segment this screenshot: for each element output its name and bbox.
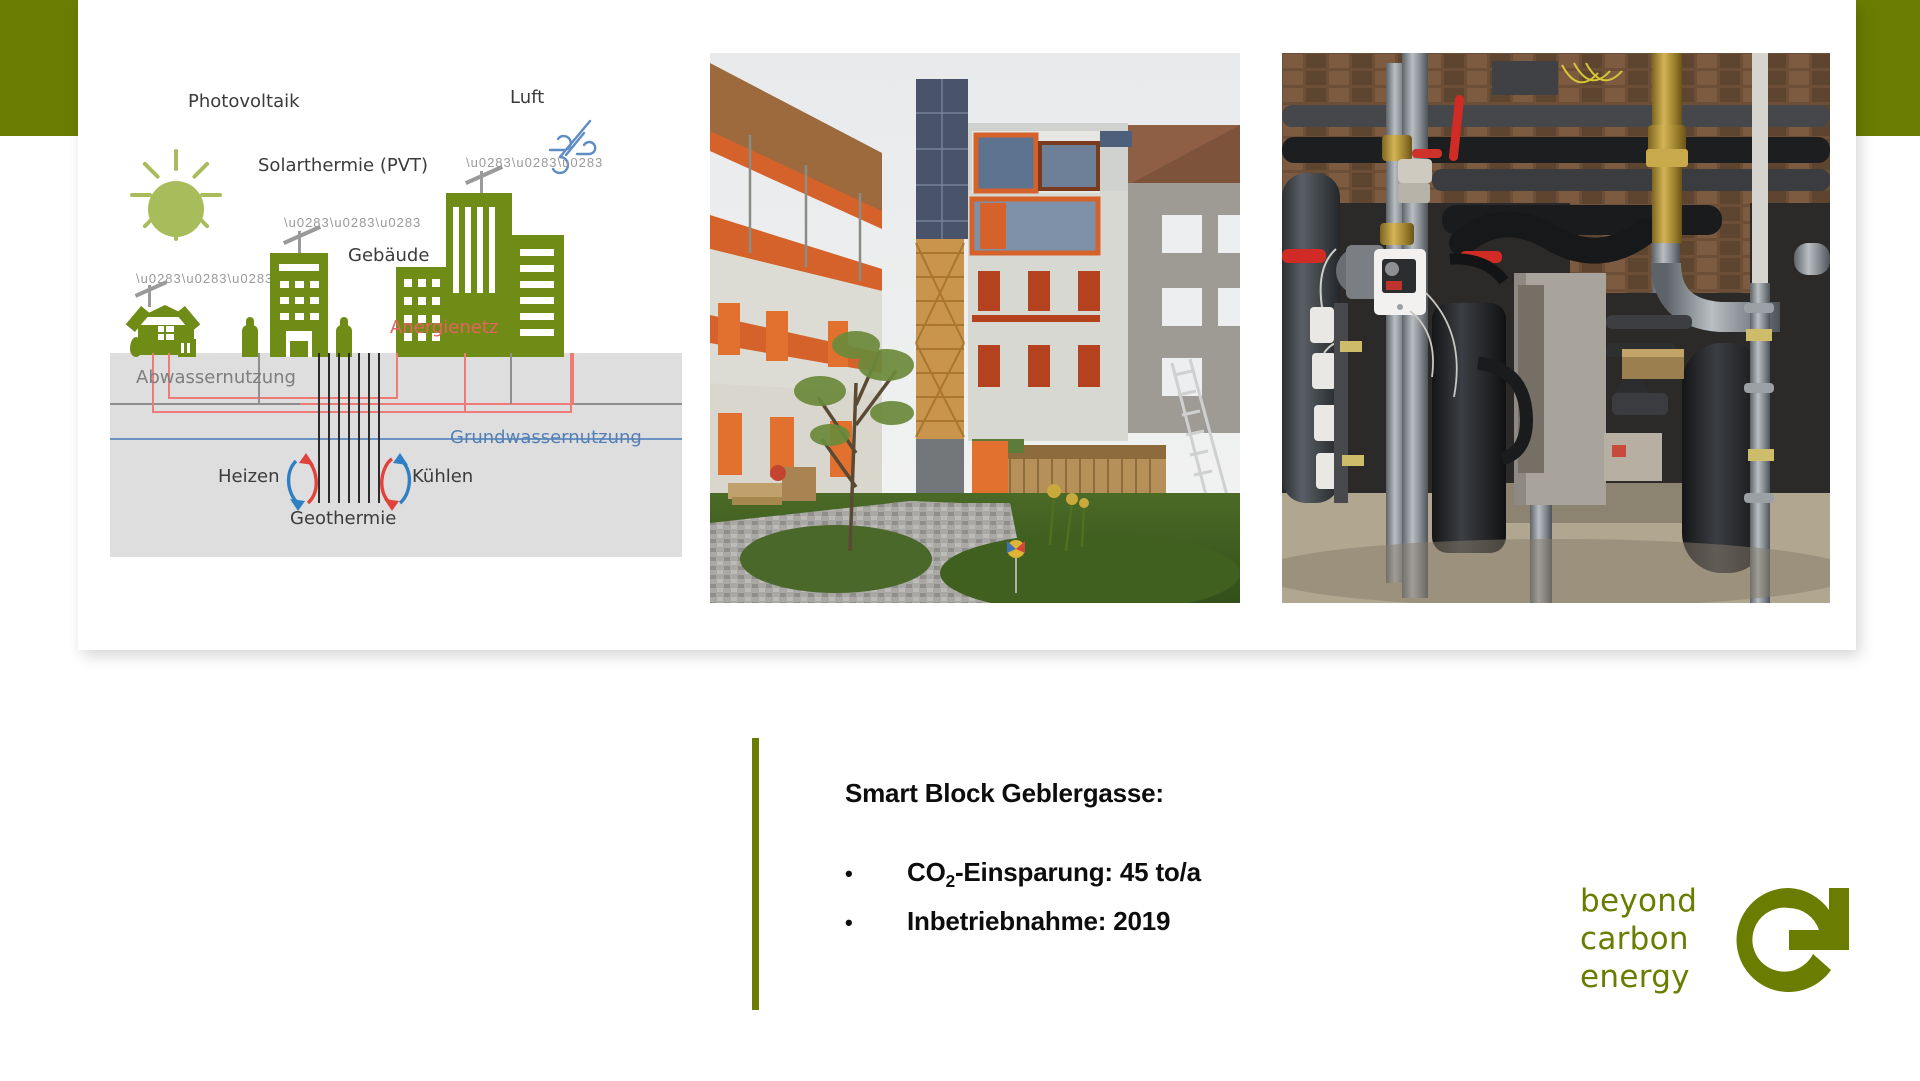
courtyard-photo bbox=[710, 53, 1240, 603]
label-luft: Luft bbox=[510, 87, 544, 108]
bullet-point-icon bbox=[845, 857, 907, 888]
bullet-text: Inbetriebnahme: 2019 bbox=[907, 906, 1170, 937]
list-item: Inbetriebnahme: 2019 bbox=[845, 906, 1545, 937]
label-anergienetz: Anergienetz bbox=[390, 317, 498, 338]
label-abwassernutzung: Abwassernutzung bbox=[136, 367, 296, 388]
logo-line-2: carbon bbox=[1580, 921, 1697, 959]
bullet-point-icon bbox=[845, 906, 907, 937]
company-logo: beyond carbon energy bbox=[1580, 880, 1857, 1000]
bullet-text: CO2-Einsparung: 45 to/a bbox=[907, 857, 1201, 892]
subscript: 2 bbox=[946, 871, 955, 891]
heating-arrow-icon bbox=[282, 451, 322, 513]
label-geothermie: Geothermie bbox=[290, 508, 396, 529]
media-strip: \u0283\u0283\u0283 \u0283\u0283\u0283 bbox=[110, 53, 1830, 603]
caption-block: Smart Block Geblergasse: CO2-Einsparung:… bbox=[845, 778, 1545, 951]
energy-concept-diagram: \u0283\u0283\u0283 \u0283\u0283\u0283 bbox=[110, 53, 682, 603]
list-item: CO2-Einsparung: 45 to/a bbox=[845, 857, 1545, 892]
corner-accent-right bbox=[1850, 0, 1920, 136]
label-photovoltaik: Photovoltaik bbox=[188, 91, 300, 112]
label-solarthermie: Solarthermie (PVT) bbox=[258, 155, 428, 176]
caption-bullet-list: CO2-Einsparung: 45 to/a Inbetriebnahme: … bbox=[845, 857, 1545, 937]
plantroom-photo bbox=[1282, 53, 1830, 603]
logo-wordmark: beyond carbon energy bbox=[1580, 883, 1697, 996]
label-heizen: Heizen bbox=[218, 466, 280, 487]
label-grundwassernutzung: Grundwassernutzung bbox=[450, 427, 642, 448]
corner-accent-left bbox=[0, 0, 80, 136]
wastewater-pipe-right bbox=[510, 353, 512, 404]
label-gebaeude: Gebäude bbox=[348, 245, 429, 266]
logo-e-mark-icon bbox=[1727, 880, 1857, 1000]
label-kuehlen: Kühlen bbox=[412, 466, 473, 487]
cooling-arrow-icon bbox=[376, 451, 416, 513]
caption-accent-bar bbox=[752, 738, 759, 1010]
logo-line-1: beyond bbox=[1580, 883, 1697, 921]
caption-title: Smart Block Geblergasse: bbox=[845, 778, 1545, 809]
plantroom-photo-image bbox=[1282, 53, 1830, 603]
logo-line-3: energy bbox=[1580, 959, 1697, 997]
courtyard-photo-image bbox=[710, 53, 1240, 603]
